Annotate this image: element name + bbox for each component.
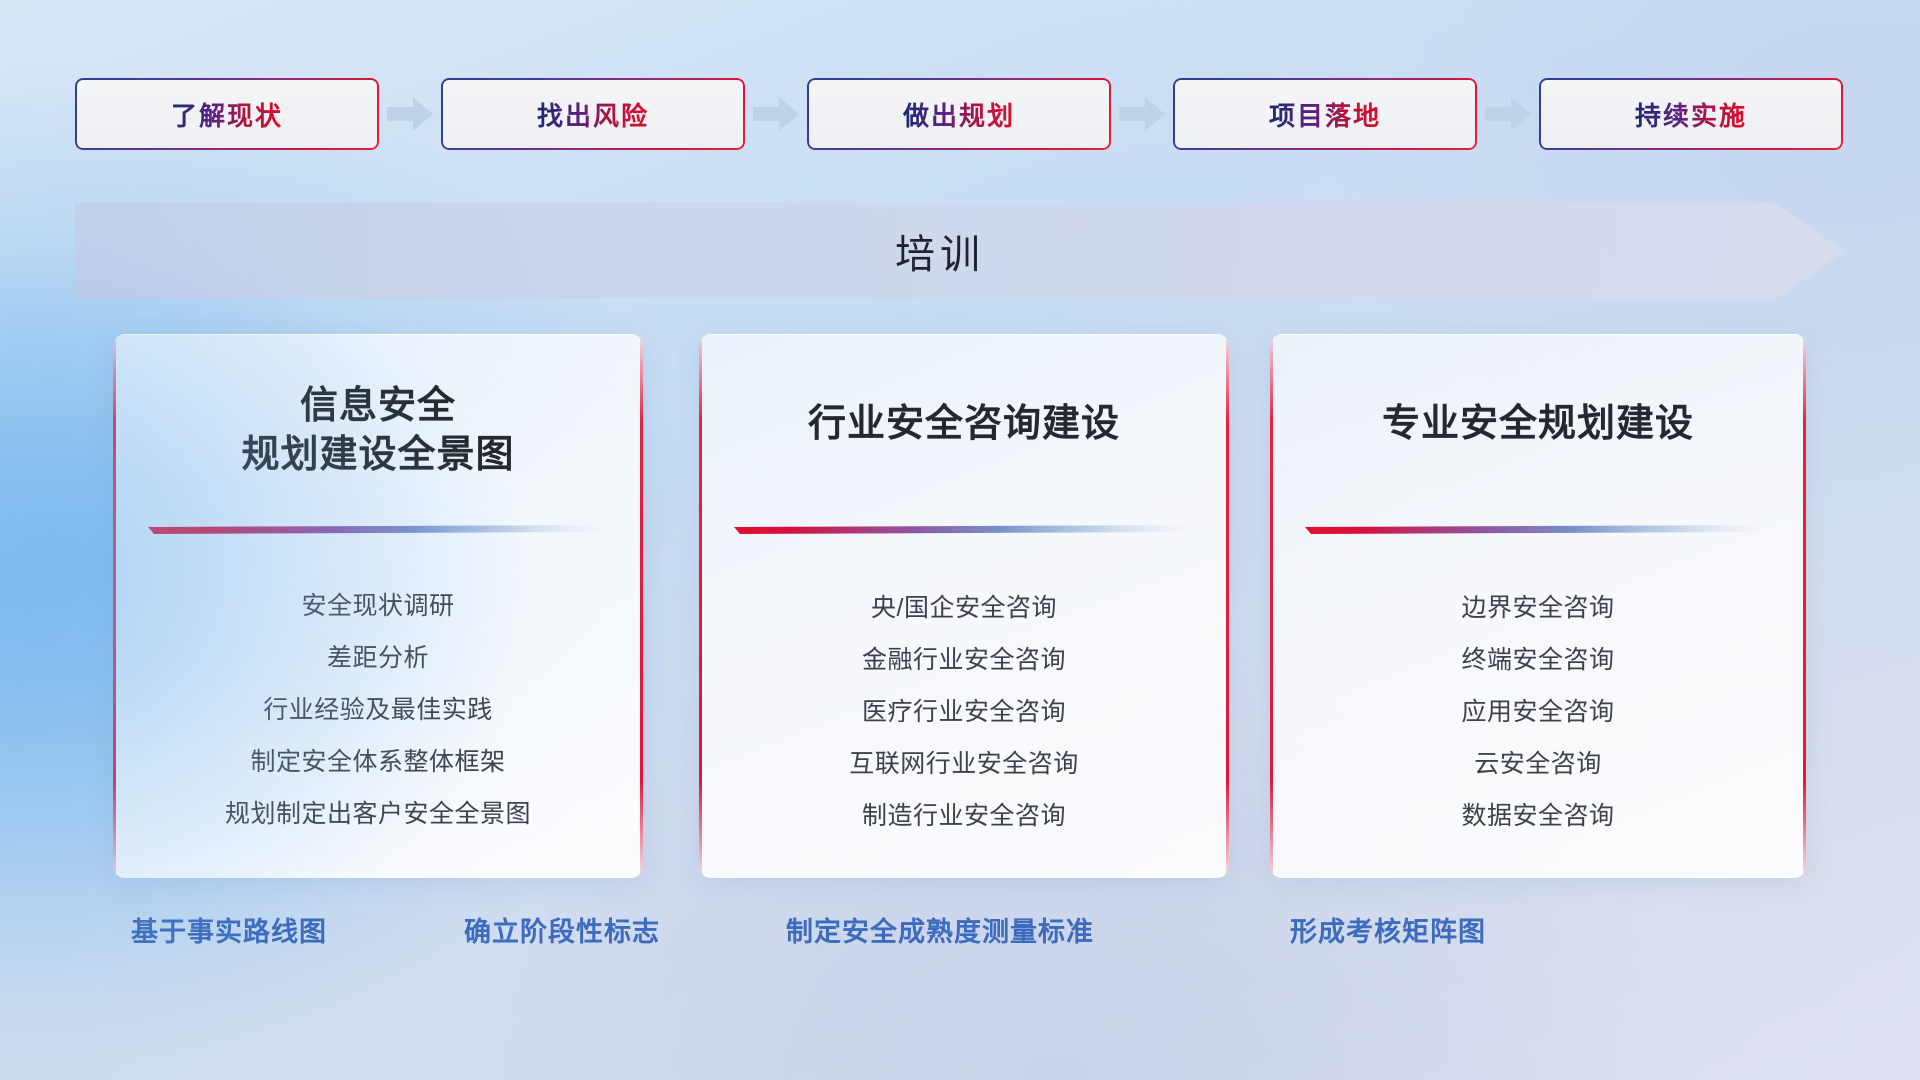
step-box-4[interactable]: 项目落地 xyxy=(1173,78,1477,150)
card-title-3: 专业安全规划建设 xyxy=(1270,400,1806,449)
list-item: 终端安全咨询 xyxy=(1270,648,1806,673)
bottom-label-2: 确立阶段性标志 xyxy=(464,910,660,949)
list-item: 金融行业安全咨询 xyxy=(699,648,1229,673)
list-item: 数据安全咨询 xyxy=(1270,804,1806,829)
card-list-2: 央/国企安全咨询 金融行业安全咨询 医疗行业安全咨询 互联网行业安全咨询 制造行… xyxy=(699,596,1229,856)
card-information-security-blueprint[interactable]: 信息安全 规划建设全景图 安全现状调研 xyxy=(113,334,643,878)
card-title-1-line2: 规划建设全景图 xyxy=(113,431,643,480)
card-title-1-line1: 信息安全 xyxy=(113,382,643,431)
bottom-label-row: 基于事实路线图 确立阶段性标志 制定安全成熟度测量标准 形成考核矩阵图 xyxy=(0,910,1920,970)
card-professional-security-planning[interactable]: 专业安全规划建设 边界安全咨询 终端安全咨询 xyxy=(1270,334,1806,878)
card-title-2: 行业安全咨询建设 xyxy=(699,400,1229,449)
card-list-3: 边界安全咨询 终端安全咨询 应用安全咨询 云安全咨询 数据安全咨询 xyxy=(1270,596,1806,856)
list-item: 制定安全体系整体框架 xyxy=(113,750,643,775)
banner-title: 培训 xyxy=(75,203,1845,299)
step-box-5[interactable]: 持续实施 xyxy=(1539,78,1843,150)
step-box-2[interactable]: 找出风险 xyxy=(441,78,745,150)
card-title-1: 信息安全 规划建设全景图 xyxy=(113,382,643,479)
card-divider-1 xyxy=(148,523,606,534)
arrow-right-icon-3 xyxy=(1111,78,1173,150)
card-top-highlight xyxy=(1270,334,1806,335)
list-item: 边界安全咨询 xyxy=(1270,596,1806,621)
list-item: 云安全咨询 xyxy=(1270,752,1806,777)
step-label-4: 项目落地 xyxy=(1269,96,1381,133)
bottom-label-3: 制定安全成熟度测量标准 xyxy=(786,910,1094,949)
card-top-highlight xyxy=(699,334,1229,335)
arrow-right-icon-2 xyxy=(745,78,807,150)
list-item: 医疗行业安全咨询 xyxy=(699,700,1229,725)
card-divider-3 xyxy=(1305,523,1767,534)
card-top-highlight xyxy=(113,334,643,335)
step-label-2: 找出风险 xyxy=(537,96,649,133)
process-step-row: 了解现状 找出风险 做出规划 项目落地 持续实施 xyxy=(75,78,1845,150)
list-item: 安全现状调研 xyxy=(113,594,643,619)
arrow-right-icon-1 xyxy=(379,78,441,150)
bottom-label-4: 形成考核矩阵图 xyxy=(1290,910,1486,949)
step-label-1: 了解现状 xyxy=(171,96,283,133)
card-row: 信息安全 规划建设全景图 安全现状调研 xyxy=(0,334,1920,878)
list-item: 央/国企安全咨询 xyxy=(699,596,1229,621)
card-divider-2 xyxy=(734,523,1192,534)
list-item: 应用安全咨询 xyxy=(1270,700,1806,725)
list-item: 行业经验及最佳实践 xyxy=(113,698,643,723)
bottom-label-1: 基于事实路线图 xyxy=(131,910,327,949)
arrow-right-icon-4 xyxy=(1477,78,1539,150)
training-banner: 培训 xyxy=(75,203,1845,299)
slide-canvas: 了解现状 找出风险 做出规划 项目落地 持续实施 xyxy=(0,0,1920,1080)
list-item: 规划制定出客户安全全景图 xyxy=(113,802,643,827)
card-industry-security-consulting[interactable]: 行业安全咨询建设 央/国企安全咨询 金融行业安全咨询 xyxy=(699,334,1229,878)
list-item: 差距分析 xyxy=(113,646,643,671)
list-item: 互联网行业安全咨询 xyxy=(699,752,1229,777)
card-title-3-line1: 专业安全规划建设 xyxy=(1270,400,1806,449)
card-list-1: 安全现状调研 差距分析 行业经验及最佳实践 制定安全体系整体框架 规划制定出客户… xyxy=(113,594,643,854)
step-box-3[interactable]: 做出规划 xyxy=(807,78,1111,150)
step-label-3: 做出规划 xyxy=(903,96,1015,133)
card-title-2-line1: 行业安全咨询建设 xyxy=(699,400,1229,449)
step-box-1[interactable]: 了解现状 xyxy=(75,78,379,150)
step-label-5: 持续实施 xyxy=(1635,96,1747,133)
list-item: 制造行业安全咨询 xyxy=(699,804,1229,829)
